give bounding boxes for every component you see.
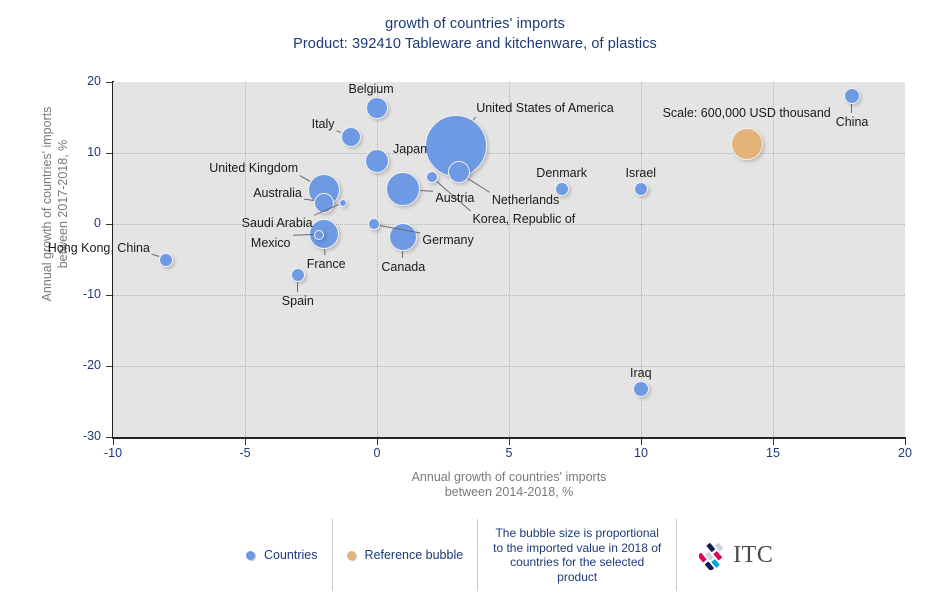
legend-note-cell: The bubble size is proportional to the i… (478, 519, 676, 591)
title-line-2: Product: 392410 Tableware and kitchenwar… (0, 34, 950, 54)
bubble-point[interactable] (339, 199, 347, 207)
y-tick-mark (106, 153, 112, 154)
plot-area (113, 82, 905, 437)
x-tick-mark (773, 439, 774, 445)
y-tick-label: -10 (61, 287, 101, 301)
y-tick-label: 10 (61, 145, 101, 159)
bubble-label: Hong Kong, China (48, 241, 150, 255)
y-tick-mark (106, 366, 112, 367)
page-title: growth of countries' imports Product: 39… (0, 14, 950, 54)
y-tick-mark (106, 224, 112, 225)
legend-note-text: The bubble size is proportional to the i… (492, 526, 662, 584)
y-tick-label: -20 (61, 358, 101, 372)
reference-bubble-icon (347, 551, 356, 560)
legend-label-reference: Reference bubble (365, 548, 464, 562)
bubble-point[interactable] (159, 253, 173, 267)
x-tick-label: 0 (357, 446, 397, 460)
x-tick-mark (905, 439, 906, 445)
bubble-label: Australia (253, 186, 302, 200)
x-tick-label: 5 (489, 446, 529, 460)
gridline-vertical (245, 82, 246, 437)
y-tick-mark (106, 437, 112, 438)
y-tick-label: -30 (61, 429, 101, 443)
bubble-label: United Kingdom (209, 161, 298, 175)
bubble-label: Italy (312, 117, 335, 131)
bubble-point[interactable] (366, 97, 388, 119)
x-tick-mark (509, 439, 510, 445)
label-leader-line (420, 190, 433, 192)
x-axis-title-line-2: between 2014-2018, % (113, 485, 905, 500)
itc-mark-icon (699, 540, 729, 570)
x-axis-title: Annual growth of countries' imports betw… (113, 470, 905, 500)
bubble-label: China (836, 115, 869, 129)
x-tick-mark (245, 439, 246, 445)
title-line-1: growth of countries' imports (0, 14, 950, 34)
legend-label-countries: Countries (264, 548, 318, 562)
bubble-label: Iraq (630, 366, 652, 380)
bubble-label: Canada (381, 260, 425, 274)
y-axis-title-line-2: between 2017-2018, % (55, 54, 71, 354)
bubble-point[interactable] (448, 161, 470, 183)
bubble-point[interactable] (633, 381, 649, 397)
gridline-vertical (773, 82, 774, 437)
bubble-label: Denmark (536, 166, 587, 180)
y-tick-label: 0 (61, 216, 101, 230)
bubble-point[interactable] (291, 268, 305, 282)
x-tick-label: 15 (753, 446, 793, 460)
x-tick-label: -5 (225, 446, 265, 460)
bubble-label: Israel (626, 166, 657, 180)
bubble-label: Belgium (349, 82, 394, 96)
bubble-label: Saudi Arabia (242, 216, 313, 230)
bubble-label: Austria (435, 191, 474, 205)
x-tick-mark (641, 439, 642, 445)
bubble-point[interactable] (634, 182, 648, 196)
label-leader-line (297, 282, 298, 292)
bubble-label: United States of America (476, 101, 614, 115)
bubble-point[interactable] (844, 88, 860, 104)
y-tick-mark (106, 295, 112, 296)
gridline-vertical (377, 82, 378, 437)
itc-logo: ITC (677, 519, 783, 591)
x-tick-label: 20 (885, 446, 925, 460)
reference-bubble[interactable] (731, 128, 763, 160)
x-tick-mark (377, 439, 378, 445)
x-tick-label: -10 (93, 446, 133, 460)
legend-item-countries[interactable]: Countries (232, 519, 332, 591)
itc-wordmark: ITC (733, 542, 773, 569)
legend: Countries Reference bubble The bubble si… (232, 519, 783, 591)
y-tick-label: 20 (61, 74, 101, 88)
bubble-label: France (307, 257, 346, 271)
y-tick-mark (106, 82, 112, 83)
legend-item-reference[interactable]: Reference bubble (333, 519, 478, 591)
y-axis-title-line-1: Annual growth of countries' imports (39, 54, 55, 354)
gridline-vertical (509, 82, 510, 437)
scale-annotation: Scale: 600,000 USD thousand (663, 106, 831, 120)
bubble-label: Spain (282, 294, 314, 308)
bubble-label: Mexico (251, 236, 291, 250)
y-axis-title: Annual growth of countries' imports betw… (39, 54, 71, 354)
bubble-label: Japan (393, 142, 427, 156)
bubble-label: Korea, Republic of (472, 212, 575, 226)
x-tick-mark (113, 439, 114, 445)
bubble-label: Germany (422, 233, 473, 247)
x-tick-label: 10 (621, 446, 661, 460)
bubble-point[interactable] (365, 149, 389, 173)
bubble-point[interactable] (368, 218, 380, 230)
bubble-point[interactable] (314, 230, 324, 240)
bubble-point[interactable] (386, 172, 420, 206)
bubble-label: Netherlands (492, 193, 559, 207)
countries-bubble-icon (246, 551, 255, 560)
x-axis-title-line-1: Annual growth of countries' imports (113, 470, 905, 485)
bubble-point[interactable] (341, 127, 361, 147)
